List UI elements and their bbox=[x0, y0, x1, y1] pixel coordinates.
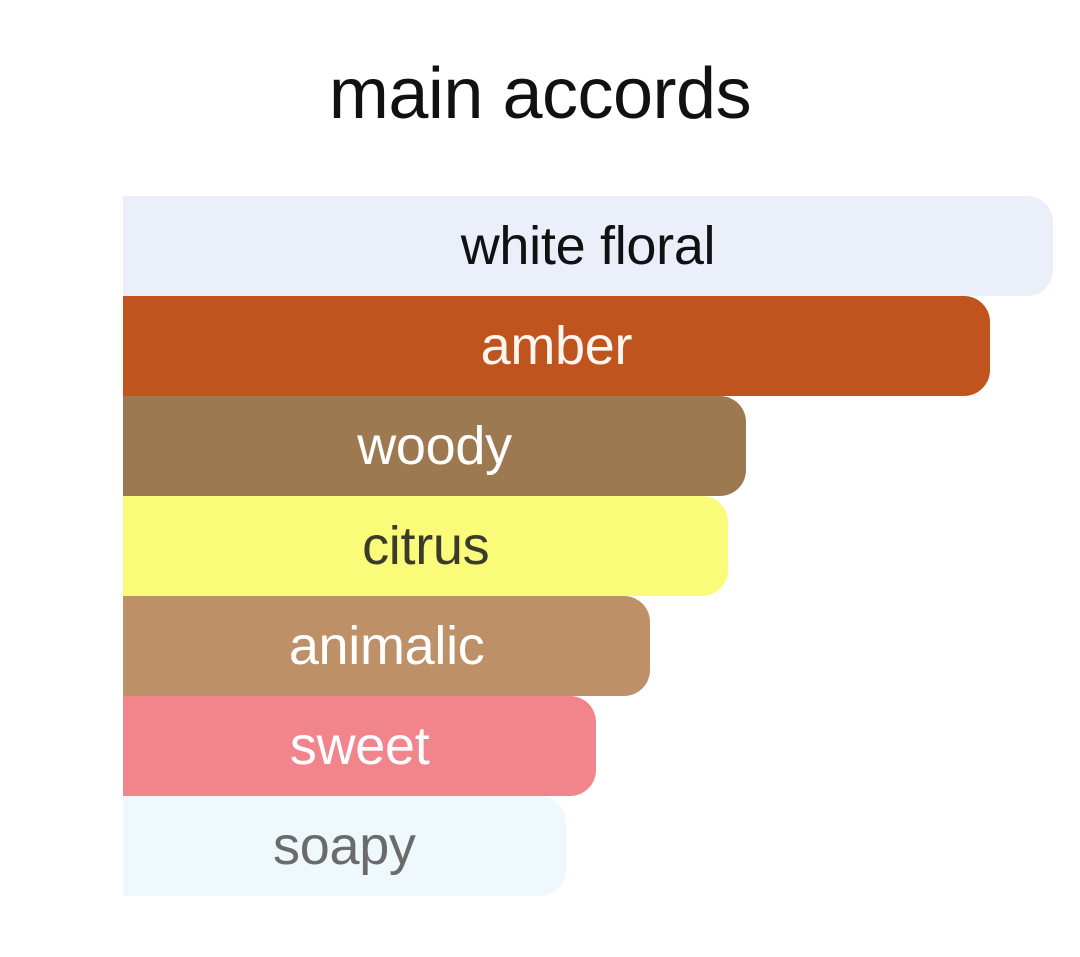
accord-bar[interactable]: soapy bbox=[123, 796, 566, 896]
accord-bar[interactable]: sweet bbox=[123, 696, 596, 796]
accord-bar-label: animalic bbox=[289, 619, 485, 673]
page-title: main accords bbox=[0, 58, 1080, 130]
accord-bar-label: white floral bbox=[461, 219, 716, 273]
accord-bar[interactable]: white floral bbox=[123, 196, 1053, 296]
accord-bar-label: woody bbox=[357, 419, 512, 473]
accord-bar[interactable]: woody bbox=[123, 396, 746, 496]
accord-bar-label: sweet bbox=[290, 719, 430, 773]
accord-bar-list: white floralamberwoodycitrusanimalicswee… bbox=[123, 196, 1053, 896]
accord-bar-label: soapy bbox=[273, 819, 416, 873]
accord-bar-label: amber bbox=[481, 319, 633, 373]
accord-bar[interactable]: citrus bbox=[123, 496, 728, 596]
accord-bar-label: citrus bbox=[362, 519, 489, 573]
main-accords-widget: main accords white floralamberwoodycitru… bbox=[0, 0, 1080, 957]
accord-bar[interactable]: amber bbox=[123, 296, 990, 396]
accord-bar[interactable]: animalic bbox=[123, 596, 650, 696]
